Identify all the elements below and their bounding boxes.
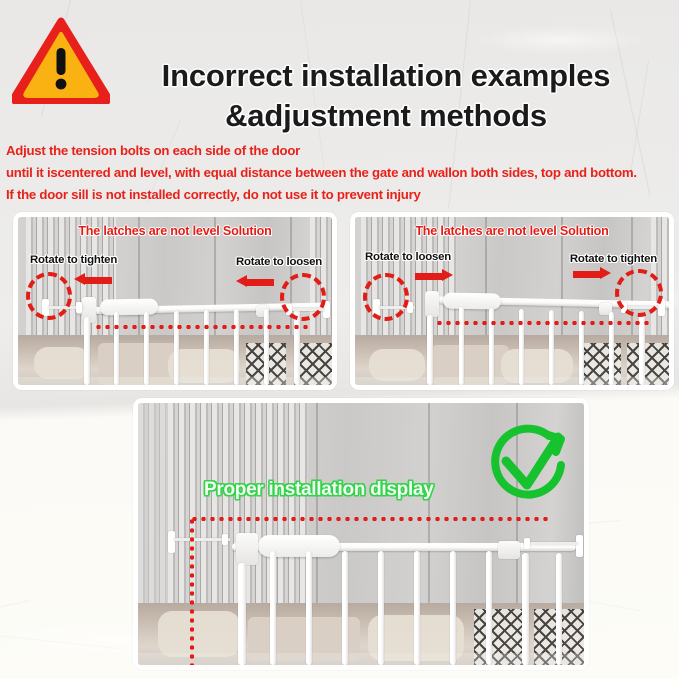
instruction-notes: Adjust the tension bolts on each side of…: [6, 144, 678, 211]
panel-right-label-loosen: Rotate to loosen: [365, 251, 451, 263]
instruction-note-1: Adjust the tension bolts on each side of…: [6, 144, 678, 157]
level-reference-line: [94, 325, 308, 329]
horizontal-guide-line: [190, 517, 548, 521]
panel-right-title: The latches are not level Solution: [355, 224, 669, 238]
green-check-circle-icon: [486, 423, 570, 507]
panel-latches-not-level-left: The latches are not level Solution Rotat…: [13, 212, 337, 390]
page-title-line2: &adjustment methods: [108, 96, 664, 136]
panel-left-label-tighten: Rotate to tighten: [30, 254, 117, 266]
arrow-left-tighten: [74, 273, 112, 286]
highlight-circle-left: [26, 272, 72, 320]
panel-latches-not-level-right: The latches are not level Solution Rotat…: [350, 212, 674, 390]
page-title: Incorrect installation examples &adjustm…: [108, 56, 664, 137]
panel-left-label-loosen: Rotate to loosen: [236, 256, 322, 268]
vertical-guide-line: [190, 517, 194, 665]
panel-left-photo: The latches are not level Solution Rotat…: [18, 217, 332, 385]
panel-proper-installation: Proper installation display: [133, 398, 589, 670]
instruction-note-3: If the door sill is not installed correc…: [6, 188, 678, 201]
panel-right-photo: The latches are not level Solution Rotat…: [355, 217, 669, 385]
page-title-line1: Incorrect installation examples: [162, 58, 611, 93]
arrow-right-loosen: [415, 269, 453, 282]
highlight-circle-right: [615, 269, 663, 317]
proper-installation-label: Proper installation display: [204, 479, 433, 501]
highlight-circle-left: [363, 273, 409, 321]
highlight-circle-right: [280, 273, 326, 321]
panel-left-title: The latches are not level Solution: [18, 224, 332, 238]
panel-right-label-tighten: Rotate to tighten: [570, 253, 657, 265]
instruction-note-2: until it iscentered and level, with equa…: [6, 166, 678, 179]
warning-triangle-icon: [12, 16, 110, 104]
arrow-left-loosen: [236, 275, 274, 288]
panel-bottom-photo: Proper installation display: [138, 403, 584, 665]
level-reference-line: [435, 321, 651, 325]
arrow-right-tighten: [573, 267, 611, 280]
